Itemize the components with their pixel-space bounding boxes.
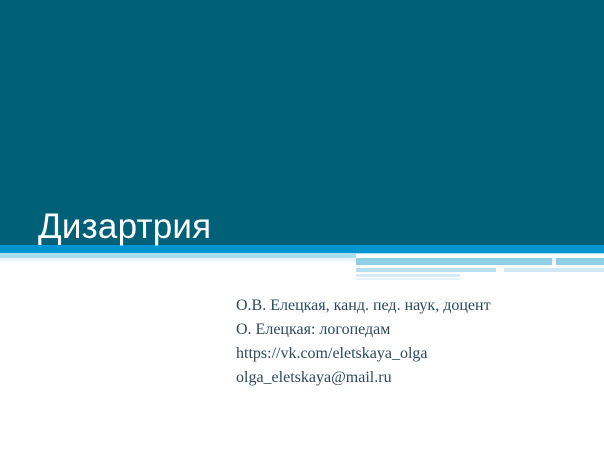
- subtitle-line: О.В. Елецкая, канд. пед. наук, доцент: [236, 294, 586, 318]
- presentation-slide: Дизартрия О.В. Елецкая, канд. пед. наук,…: [0, 0, 604, 453]
- decorative-stripe: [556, 258, 604, 265]
- slide-title: Дизартрия: [38, 207, 211, 247]
- decorative-stripe: [356, 258, 552, 265]
- decorative-stripe: [356, 274, 460, 277]
- decorative-stripe: [356, 278, 460, 280]
- subtitle-line-link[interactable]: https://vk.com/eletskaya_olga: [236, 342, 586, 366]
- decorative-stripe: [356, 245, 604, 253]
- slide-subtitle-block: О.В. Елецкая, канд. пед. наук, доцент О.…: [236, 294, 586, 390]
- subtitle-line: О. Елецкая: логопедам: [236, 318, 586, 342]
- decorative-stripe-group: [356, 245, 604, 285]
- subtitle-line-email[interactable]: olga_eletskaya@mail.ru: [236, 366, 586, 390]
